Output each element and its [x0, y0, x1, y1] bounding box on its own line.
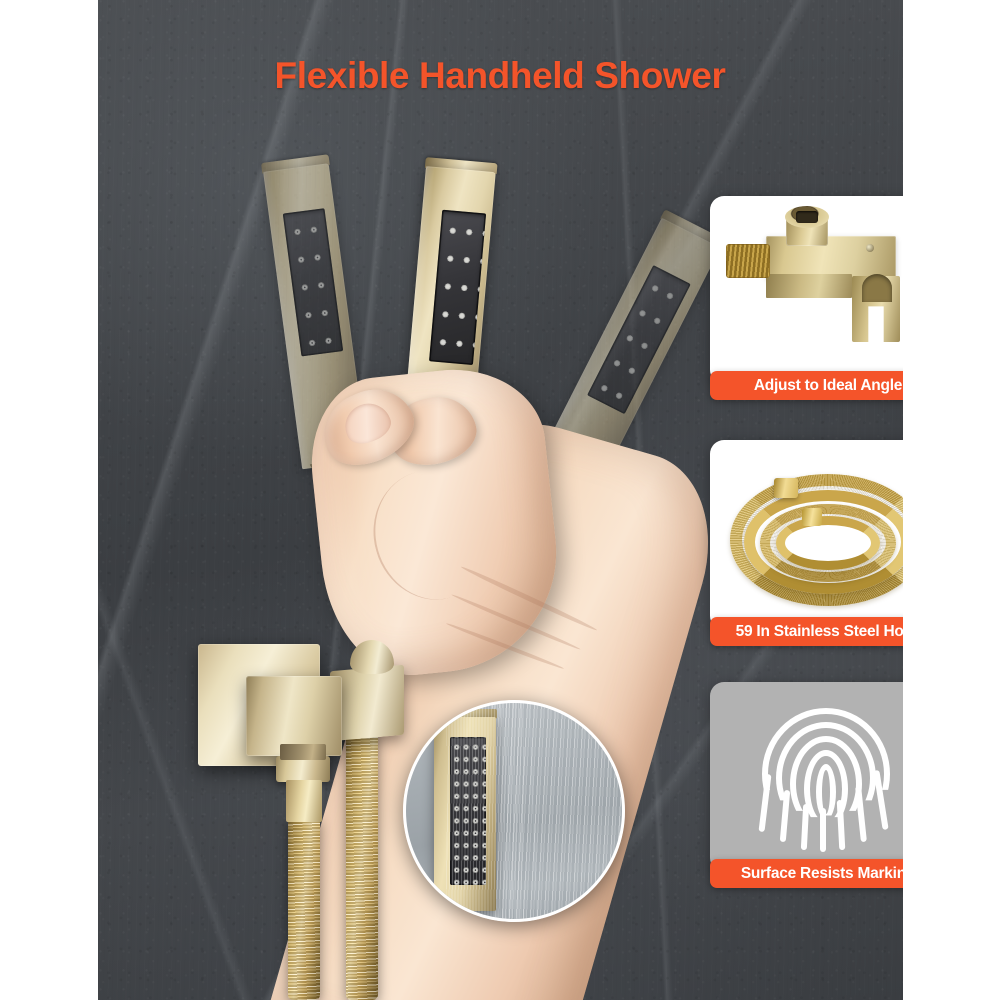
- feature-card-media: [710, 196, 903, 384]
- hose-coil-inner: [776, 516, 880, 570]
- product-feature-image: Adjust to Ideal Angle 59 In Stainless St…: [0, 0, 1000, 1000]
- feature-card-media: [710, 682, 903, 872]
- fingerprint-ridge: [816, 764, 836, 820]
- shower-hose-left: [288, 818, 320, 1000]
- fingerprint-ridge-leg: [758, 774, 771, 832]
- coiled-hose: [728, 456, 903, 616]
- feature-card-label: Adjust to Ideal Angle: [710, 371, 903, 400]
- shower-hose-right: [346, 732, 378, 1000]
- fingerprint-no-smudge-icon: [758, 704, 898, 850]
- wand-highlight-edge: [263, 171, 311, 470]
- page-title: Flexible Handheld Shower: [0, 55, 1000, 97]
- hose-stub: [286, 780, 322, 822]
- feature-card-resists-marking: Surface Resists Marking: [710, 682, 903, 888]
- set-screw-icon: [866, 244, 874, 252]
- wand-spray-face: [587, 265, 691, 414]
- hose-collar: [280, 744, 326, 760]
- hose-end-fitting: [774, 478, 798, 498]
- feature-card-adjust-angle: Adjust to Ideal Angle: [710, 196, 903, 400]
- wand-cap: [261, 154, 330, 174]
- threaded-inlet: [726, 244, 770, 278]
- bracket-lower-ledge: [766, 274, 852, 298]
- feature-card-stainless-hose: 59 In Stainless Steel Hose: [710, 440, 903, 646]
- cradle-notch: [862, 274, 892, 302]
- hose-end-fitting-secondary: [802, 508, 822, 526]
- water-veil: [446, 703, 524, 919]
- spray-detail-inset: [403, 700, 625, 922]
- fingerprint-ridge-leg: [820, 808, 826, 852]
- wand-nozzles: [283, 208, 343, 356]
- feature-card-media: [710, 440, 903, 630]
- wand-nozzles: [587, 265, 691, 414]
- feature-card-label: 59 In Stainless Steel Hose: [710, 617, 903, 646]
- hex-socket-inner: [796, 211, 818, 223]
- feature-card-label: Surface Resists Marking: [710, 859, 903, 888]
- wand-spray-face: [283, 208, 343, 356]
- slate-wall-background: Adjust to Ideal Angle 59 In Stainless St…: [98, 0, 903, 1000]
- fingerprint-ridge-leg: [801, 804, 809, 850]
